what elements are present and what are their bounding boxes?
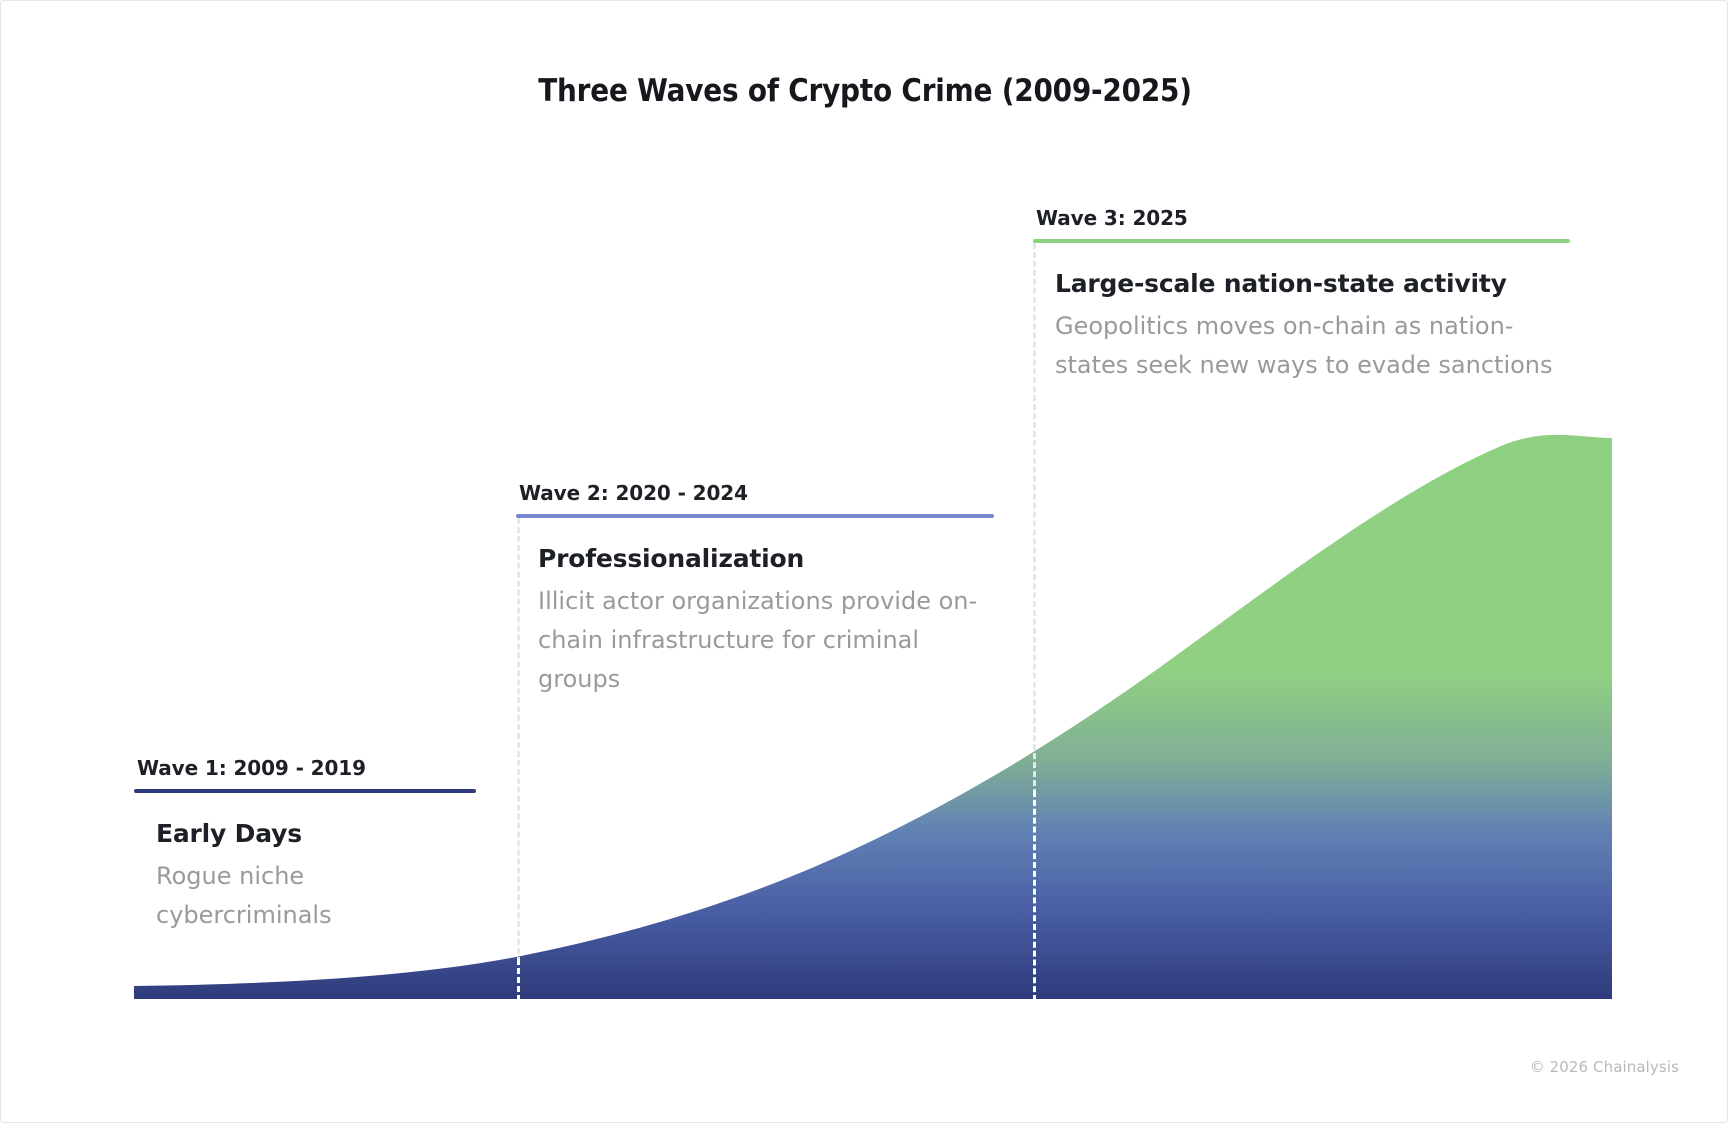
wave-3-annotation: Wave 3: 2025 Large-scale nation-state ac…	[1033, 206, 1573, 385]
wave-3-description: Geopolitics moves on-chain as nation-sta…	[1055, 307, 1573, 385]
page-title: Three Waves of Crypto Crime (2009-2025)	[1, 73, 1728, 109]
wave-1-annotation: Wave 1: 2009 - 2019 Early Days Rogue nic…	[134, 756, 479, 935]
wave-2-annotation: Wave 2: 2020 - 2024 Professionalization …	[516, 481, 996, 699]
wave-2-accent-rule	[516, 514, 994, 518]
wave-1-accent-rule	[134, 789, 476, 793]
wave-divider-2-overlay	[1033, 791, 1036, 1001]
wave-3-heading: Large-scale nation-state activity	[1055, 269, 1573, 299]
wave-3-accent-rule	[1033, 239, 1570, 243]
wave-1-heading: Early Days	[156, 819, 479, 849]
wave-3-body: Large-scale nation-state activity Geopol…	[1033, 269, 1573, 385]
wave-1-description: Rogue niche cybercriminals	[156, 857, 479, 935]
wave-1-period-label: Wave 1: 2009 - 2019	[134, 756, 479, 780]
infographic-canvas: Three Waves of Crypto Crime (2009-2025)	[0, 0, 1728, 1123]
wave-2-body: Professionalization Illicit actor organi…	[516, 544, 996, 699]
wave-3-period-label: Wave 3: 2025	[1033, 206, 1573, 230]
wave-2-period-label: Wave 2: 2020 - 2024	[516, 481, 996, 505]
wave-1-body: Early Days Rogue niche cybercriminals	[134, 819, 479, 935]
wave-2-heading: Professionalization	[538, 544, 996, 574]
wave-2-description: Illicit actor organizations provide on-c…	[538, 582, 996, 699]
copyright-credit: © 2026 Chainalysis	[1530, 1058, 1679, 1076]
wave-divider-1-overlay	[517, 959, 520, 1001]
